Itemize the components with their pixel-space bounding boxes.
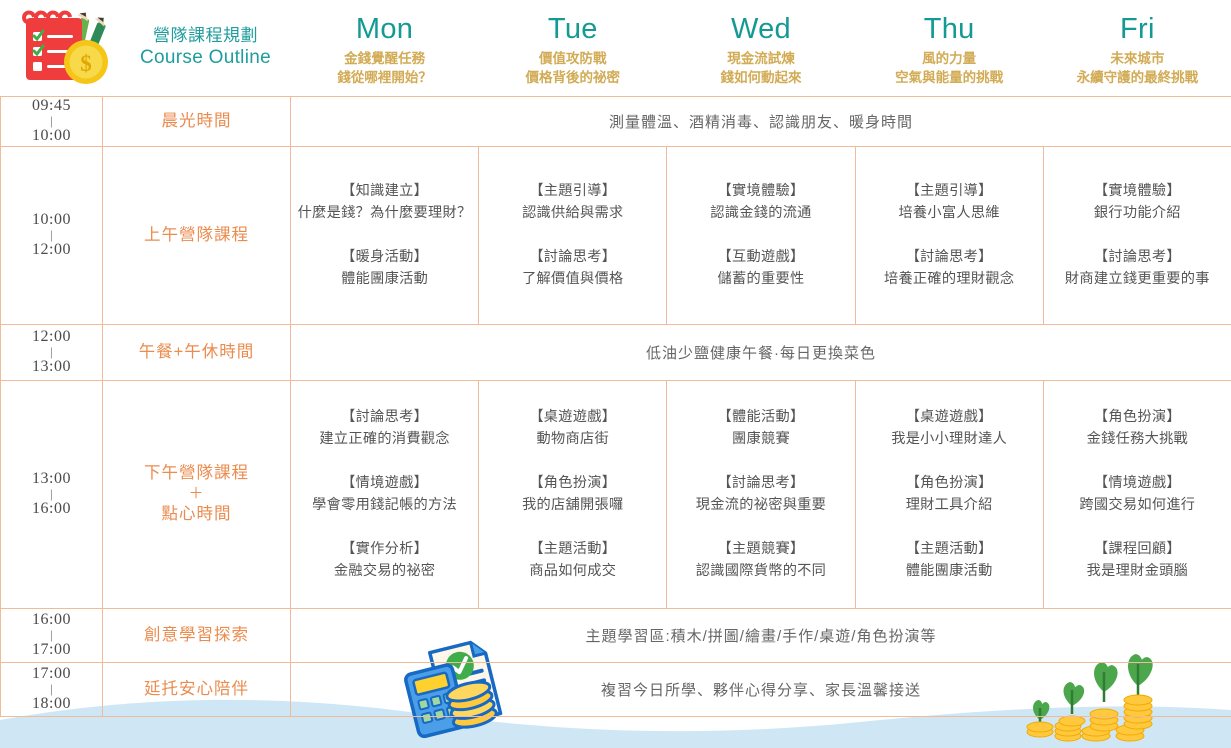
course-block: 【角色扮演】 金錢任務大挑戰 xyxy=(1048,406,1227,450)
time-start: 16:00 xyxy=(32,611,71,628)
course-block: 【主題競賽】 認識國際貨幣的不同 xyxy=(671,538,850,582)
time-end: 16:00 xyxy=(32,500,71,517)
course-block: 【情境遊戲】 跨國交易如何進行 xyxy=(1048,472,1227,516)
course-desc: 儲蓄的重要性 xyxy=(671,268,850,290)
day-subtitle-thu-2: 空氣與能量的挑戰 xyxy=(855,68,1043,88)
course-title: 【桌遊遊戲】 xyxy=(483,406,662,428)
course-block: 【討論思考】 培養正確的理財觀念 xyxy=(860,246,1039,290)
course-title: 【桌遊遊戲】 xyxy=(860,406,1039,428)
row-label-extended-care: 延托安心陪伴 xyxy=(103,662,291,716)
day-subtitle-mon-1: 金錢覺醒任務 xyxy=(291,49,479,69)
time-separator: | xyxy=(1,629,102,641)
table-header-row: 營隊課程規劃 Course Outline Mon 金錢覺醒任務 錢從哪裡開始？ xyxy=(1,0,1231,96)
course-desc: 財商建立錢更重要的事 xyxy=(1048,268,1227,290)
course-desc: 培養正確的理財觀念 xyxy=(860,268,1039,290)
course-block: 【知識建立】 什麼是錢？為什麼要理財？ xyxy=(295,180,474,224)
course-outline-title: 營隊課程規劃 Course Outline xyxy=(103,25,291,71)
day-header-tue: Tue 價值攻防戰 價格背後的祕密 xyxy=(479,0,667,96)
day-name-fri: Fri xyxy=(1043,13,1231,45)
course-cell-pm-thu: 【桌遊遊戲】 我是小小理財達人 【角色扮演】 理財工具介紹 【主題活動】 體能團… xyxy=(855,380,1043,608)
day-name-thu: Thu xyxy=(855,13,1043,45)
day-header-thu: Thu 風的力量 空氣與能量的挑戰 xyxy=(855,0,1043,96)
day-subtitle-thu-1: 風的力量 xyxy=(855,49,1043,69)
table-row: 10:00 | 12:00 上午營隊課程 【知識建立】 什麼是錢？為什麼要理財？… xyxy=(1,146,1231,324)
course-block: 【體能活動】 團康競賽 xyxy=(671,406,850,450)
course-desc: 跨國交易如何進行 xyxy=(1048,494,1227,516)
table-row: 13:00 | 16:00 下午營隊課程 ＋ 點心時間 【討論思考】 建立正確的… xyxy=(1,380,1231,608)
course-title: 【知識建立】 xyxy=(295,180,474,202)
course-desc: 學會零用錢記帳的方法 xyxy=(295,494,474,516)
course-cell-am-wed: 【實境體驗】 認識金錢的流通 【互動遊戲】 儲蓄的重要性 xyxy=(667,146,855,324)
course-block: 【互動遊戲】 儲蓄的重要性 xyxy=(671,246,850,290)
course-desc: 動物商店街 xyxy=(483,428,662,450)
day-name-tue: Tue xyxy=(479,13,667,45)
course-block: 【課程回顧】 我是理財金頭腦 xyxy=(1048,538,1227,582)
course-block: 【討論思考】 現金流的祕密與重要 xyxy=(671,472,850,516)
course-cell-am-thu: 【主題引導】 培養小富人思維 【討論思考】 培養正確的理財觀念 xyxy=(855,146,1043,324)
row-label-creative: 創意學習探索 xyxy=(103,608,291,662)
course-desc: 建立正確的消費觀念 xyxy=(295,428,474,450)
merged-activity-lunch: 低油少鹽健康午餐·每日更換菜色 xyxy=(291,324,1231,380)
time-separator: | xyxy=(1,346,102,358)
course-title: 【互動遊戲】 xyxy=(671,246,850,268)
course-outline-page: $ xyxy=(0,0,1231,748)
course-cell-pm-tue: 【桌遊遊戲】 動物商店街 【角色扮演】 我的店舖開張囉 【主題活動】 商品如何成… xyxy=(479,380,667,608)
time-slot: 16:00 | 17:00 xyxy=(1,608,103,662)
course-block: 【主題引導】 認識供給與需求 xyxy=(483,180,662,224)
table-row: 16:00 | 17:00 創意學習探索 主題學習區:積木/拼圖/繪畫/手作/桌… xyxy=(1,608,1231,662)
day-name-mon: Mon xyxy=(291,13,479,45)
course-block: 【討論思考】 建立正確的消費觀念 xyxy=(295,406,474,450)
time-slot: 13:00 | 16:00 xyxy=(1,380,103,608)
course-desc: 現金流的祕密與重要 xyxy=(671,494,850,516)
course-title: 【主題引導】 xyxy=(483,180,662,202)
course-title: 【主題活動】 xyxy=(483,538,662,560)
time-slot: 17:00 | 18:00 xyxy=(1,662,103,716)
day-name-wed: Wed xyxy=(667,13,855,45)
course-desc: 體能團康活動 xyxy=(860,560,1039,582)
course-block: 【暖身活動】 體能團康活動 xyxy=(295,246,474,290)
course-block: 【實境體驗】 銀行功能介紹 xyxy=(1048,180,1227,224)
row-label-lunch: 午餐+午休時間 xyxy=(103,324,291,380)
course-block: 【主題活動】 體能團康活動 xyxy=(860,538,1039,582)
time-separator: | xyxy=(1,488,102,500)
course-cell-pm-fri: 【角色扮演】 金錢任務大挑戰 【情境遊戲】 跨國交易如何進行 【課程回顧】 我是… xyxy=(1043,380,1231,608)
course-desc: 認識供給與需求 xyxy=(483,202,662,224)
course-cell-pm-wed: 【體能活動】 團康競賽 【討論思考】 現金流的祕密與重要 【主題競賽】 認識國際… xyxy=(667,380,855,608)
course-title: 【主題競賽】 xyxy=(671,538,850,560)
course-title: 【實作分析】 xyxy=(295,538,474,560)
course-block: 【桌遊遊戲】 動物商店街 xyxy=(483,406,662,450)
time-end: 13:00 xyxy=(32,358,71,375)
course-desc: 我的店舖開張囉 xyxy=(483,494,662,516)
day-subtitle-tue-1: 價值攻防戰 xyxy=(479,49,667,69)
day-subtitle-wed-2: 錢如何動起來 xyxy=(667,68,855,88)
time-end: 17:00 xyxy=(32,641,71,658)
course-cell-pm-mon: 【討論思考】 建立正確的消費觀念 【情境遊戲】 學會零用錢記帳的方法 【實作分析… xyxy=(291,380,479,608)
time-separator: | xyxy=(1,115,102,127)
row-label-pm-course: 下午營隊課程 ＋ 點心時間 xyxy=(103,380,291,608)
row-label-morning-gather: 晨光時間 xyxy=(103,96,291,146)
course-desc: 銀行功能介紹 xyxy=(1048,202,1227,224)
course-title: 【暖身活動】 xyxy=(295,246,474,268)
row-label-pm-plus: ＋ xyxy=(103,486,290,503)
time-slot: 09:45 | 10:00 xyxy=(1,96,103,146)
time-slot: 12:00 | 13:00 xyxy=(1,324,103,380)
course-desc: 我是理財金頭腦 xyxy=(1048,560,1227,582)
merged-activity-morning-gather: 測量體溫、酒精消毒、認識朋友、暖身時間 xyxy=(291,96,1231,146)
course-block: 【主題活動】 商品如何成交 xyxy=(483,538,662,582)
course-outline-title-en: Course Outline xyxy=(121,46,291,70)
course-desc: 培養小富人思維 xyxy=(860,202,1039,224)
course-desc: 金融交易的祕密 xyxy=(295,560,474,582)
course-desc: 什麼是錢？為什麼要理財？ xyxy=(295,202,474,224)
course-cell-am-fri: 【實境體驗】 銀行功能介紹 【討論思考】 財商建立錢更重要的事 xyxy=(1043,146,1231,324)
time-slot: 10:00 | 12:00 xyxy=(1,146,103,324)
course-title: 【討論思考】 xyxy=(671,472,850,494)
merged-activity-creative: 主題學習區:積木/拼圖/繪畫/手作/桌遊/角色扮演等 xyxy=(291,608,1231,662)
course-block: 【角色扮演】 理財工具介紹 xyxy=(860,472,1039,516)
course-title: 【情境遊戲】 xyxy=(295,472,474,494)
course-title: 【情境遊戲】 xyxy=(1048,472,1227,494)
row-label-pm-line1: 下午營隊課程 xyxy=(144,464,249,482)
course-title: 【課程回顧】 xyxy=(1048,538,1227,560)
course-title: 【體能活動】 xyxy=(671,406,850,428)
course-desc: 認識國際貨幣的不同 xyxy=(671,560,850,582)
course-title: 【主題引導】 xyxy=(860,180,1039,202)
course-desc: 了解價值與價格 xyxy=(483,268,662,290)
course-desc: 商品如何成交 xyxy=(483,560,662,582)
course-title: 【角色扮演】 xyxy=(1048,406,1227,428)
course-block: 【角色扮演】 我的店舖開張囉 xyxy=(483,472,662,516)
day-header-mon: Mon 金錢覺醒任務 錢從哪裡開始？ xyxy=(291,0,479,96)
day-header-wed: Wed 現金流試煉 錢如何動起來 xyxy=(667,0,855,96)
course-desc: 我是小小理財達人 xyxy=(860,428,1039,450)
course-schedule-table: 營隊課程規劃 Course Outline Mon 金錢覺醒任務 錢從哪裡開始？ xyxy=(0,0,1231,717)
day-subtitle-fri-2: 永續守護的最終挑戰 xyxy=(1043,68,1231,88)
course-outline-title-cell: 營隊課程規劃 Course Outline xyxy=(103,0,291,96)
day-subtitle-tue-2: 價格背後的祕密 xyxy=(479,68,667,88)
course-block: 【實作分析】 金融交易的祕密 xyxy=(295,538,474,582)
course-block: 【討論思考】 財商建立錢更重要的事 xyxy=(1048,246,1227,290)
time-start: 17:00 xyxy=(32,665,71,682)
course-cell-am-tue: 【主題引導】 認識供給與需求 【討論思考】 了解價值與價格 xyxy=(479,146,667,324)
time-separator: | xyxy=(1,229,102,241)
course-desc: 團康競賽 xyxy=(671,428,850,450)
day-subtitle-wed-1: 現金流試煉 xyxy=(667,49,855,69)
course-block: 【主題引導】 培養小富人思維 xyxy=(860,180,1039,224)
course-title: 【討論思考】 xyxy=(483,246,662,268)
course-title: 【主題活動】 xyxy=(860,538,1039,560)
day-subtitle-fri-1: 未來城市 xyxy=(1043,49,1231,69)
course-title: 【討論思考】 xyxy=(1048,246,1227,268)
course-block: 【實境體驗】 認識金錢的流通 xyxy=(671,180,850,224)
course-outline-title-zh: 營隊課程規劃 xyxy=(121,25,291,47)
course-desc: 理財工具介紹 xyxy=(860,494,1039,516)
logo-cell xyxy=(1,0,103,96)
merged-activity-extended-care: 複習今日所學、夥伴心得分享、家長溫馨接送 xyxy=(291,662,1231,716)
course-title: 【實境體驗】 xyxy=(1048,180,1227,202)
course-cell-am-mon: 【知識建立】 什麼是錢？為什麼要理財？ 【暖身活動】 體能團康活動 xyxy=(291,146,479,324)
day-subtitle-mon-2: 錢從哪裡開始？ xyxy=(291,68,479,88)
course-block: 【桌遊遊戲】 我是小小理財達人 xyxy=(860,406,1039,450)
course-title: 【角色扮演】 xyxy=(483,472,662,494)
course-title: 【實境體驗】 xyxy=(671,180,850,202)
course-title: 【討論思考】 xyxy=(860,246,1039,268)
time-end: 10:00 xyxy=(32,127,71,144)
time-end: 12:00 xyxy=(32,241,71,258)
day-header-fri: Fri 未來城市 永續守護的最終挑戰 xyxy=(1043,0,1231,96)
table-row: 12:00 | 13:00 午餐+午休時間 低油少鹽健康午餐·每日更換菜色 xyxy=(1,324,1231,380)
course-desc: 金錢任務大挑戰 xyxy=(1048,428,1227,450)
time-end: 18:00 xyxy=(32,695,71,712)
table-row: 09:45 | 10:00 晨光時間 測量體溫、酒精消毒、認識朋友、暖身時間 xyxy=(1,96,1231,146)
time-separator: | xyxy=(1,683,102,695)
time-start: 10:00 xyxy=(32,211,71,228)
course-block: 【情境遊戲】 學會零用錢記帳的方法 xyxy=(295,472,474,516)
course-desc: 認識金錢的流通 xyxy=(671,202,850,224)
course-title: 【角色扮演】 xyxy=(860,472,1039,494)
time-start: 13:00 xyxy=(32,470,71,487)
time-start: 12:00 xyxy=(32,328,71,345)
row-label-am-course: 上午營隊課程 xyxy=(103,146,291,324)
time-start: 09:45 xyxy=(32,97,71,114)
course-block: 【討論思考】 了解價值與價格 xyxy=(483,246,662,290)
row-label-pm-line2: 點心時間 xyxy=(162,505,232,523)
course-desc: 體能團康活動 xyxy=(295,268,474,290)
course-title: 【討論思考】 xyxy=(295,406,474,428)
table-row: 17:00 | 18:00 延托安心陪伴 複習今日所學、夥伴心得分享、家長溫馨接… xyxy=(1,662,1231,716)
